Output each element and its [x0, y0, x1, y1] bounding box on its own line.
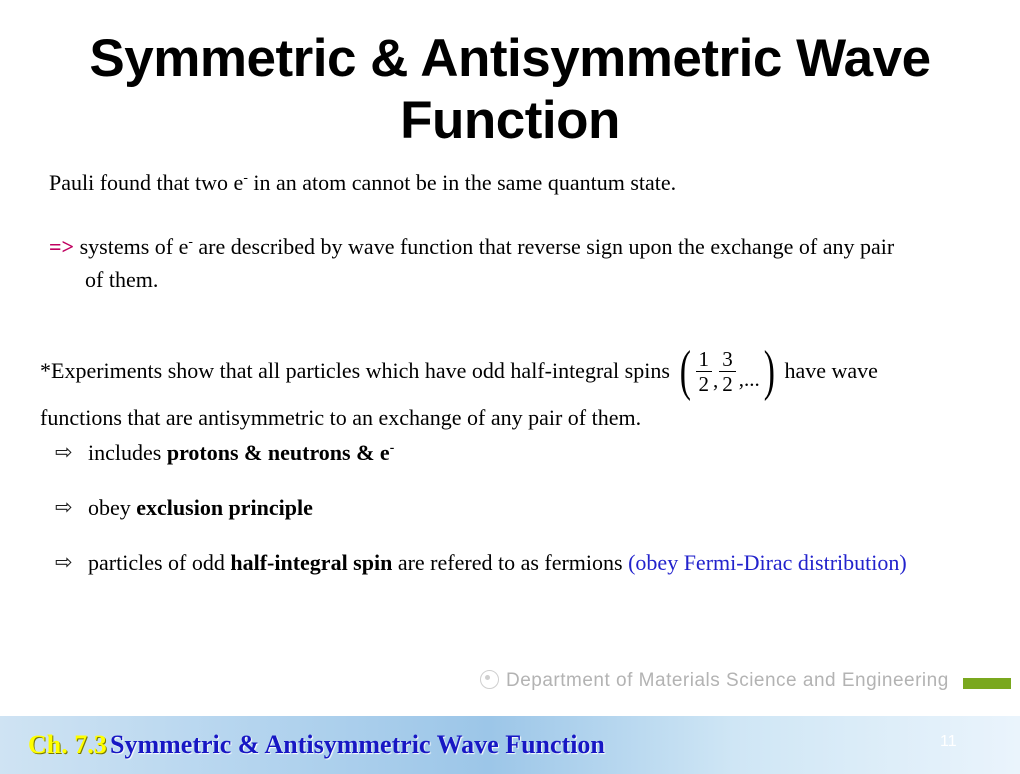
segment-blue: (obey Fermi-Dirac distribution) [628, 550, 907, 575]
segment-normal: particles of odd [88, 550, 230, 575]
bullet-list: ⇨ includes protons & neutrons & e- ⇨ obe… [55, 440, 995, 605]
left-paren: ( [680, 343, 691, 399]
green-accent-bar [963, 678, 1011, 689]
fraction-separator: , [713, 364, 718, 397]
department-footer: Department of Materials Science and Engi… [480, 670, 949, 692]
list-item: ⇨ includes protons & neutrons & e- [55, 440, 995, 495]
arrow-bullet-icon: ⇨ [55, 495, 73, 520]
chapter-label: Ch. 7.3 [28, 730, 107, 760]
segment-bold: protons & neutrons & e [167, 440, 390, 465]
list-item: ⇨ particles of odd half-integral spin ar… [55, 550, 995, 605]
fraction-one-half: 12 [696, 348, 713, 395]
electron-superscript: - [390, 440, 395, 455]
paragraph-experiments: *Experiments show that all particles whi… [40, 345, 980, 434]
fraction-three-halves: 32 [719, 348, 736, 395]
list-item-text: includes protons & neutrons & e- [88, 440, 394, 466]
banner-title: Symmetric & Antisymmetric Wave Function [110, 730, 605, 760]
paragraph-pauli-post: in an atom cannot be in the same quantum… [248, 170, 676, 195]
paragraph-pauli-pre: Pauli found that two e [49, 170, 243, 195]
segment-bold: exclusion principle [136, 495, 313, 520]
segment-normal: includes [88, 440, 167, 465]
paragraph-systems-line1: systems of e [74, 234, 188, 259]
paragraph-pauli: Pauli found that two e- in an atom canno… [49, 170, 676, 196]
list-item-text: obey exclusion principle [88, 495, 313, 521]
right-paren: ) [764, 343, 775, 399]
paragraph-experiments-line2: functions that are antisymmetric to an e… [40, 405, 641, 430]
paragraph-systems: => systems of e- are described by wave f… [49, 230, 959, 296]
slide: Symmetric & Antisymmetric Wave Function … [0, 0, 1020, 771]
department-text: Department of Materials Science and Engi… [506, 670, 949, 691]
paragraph-systems-line1b: are described by wave function that reve… [193, 234, 894, 259]
spin-fraction-group: (12,32,...) [676, 343, 779, 399]
arrow-bullet-icon: ⇨ [55, 440, 73, 465]
segment-bold: half-integral spin [230, 550, 392, 575]
paragraph-experiments-line1: *Experiments show that all particles whi… [40, 358, 670, 383]
list-item: ⇨ obey exclusion principle [55, 495, 995, 550]
logo-icon [480, 670, 499, 689]
bottom-banner: Ch. 7.3 Symmetric & Antisymmetric Wave F… [0, 713, 1020, 774]
arrow-bullet-icon: ⇨ [55, 550, 73, 575]
paragraph-systems-line2: of them. [49, 263, 959, 296]
fraction-ellipsis: ,... [739, 363, 760, 396]
list-item-text: particles of odd half-integral spin are … [88, 550, 907, 576]
page-title: Symmetric & Antisymmetric Wave Function [0, 28, 1020, 152]
segment-normal: obey [88, 495, 136, 520]
implies-arrow: => [49, 234, 74, 259]
segment-normal: are refered to as fermions [392, 550, 628, 575]
paragraph-experiments-line1-tail: have wave [784, 358, 877, 383]
page-number: 11 [940, 733, 957, 751]
